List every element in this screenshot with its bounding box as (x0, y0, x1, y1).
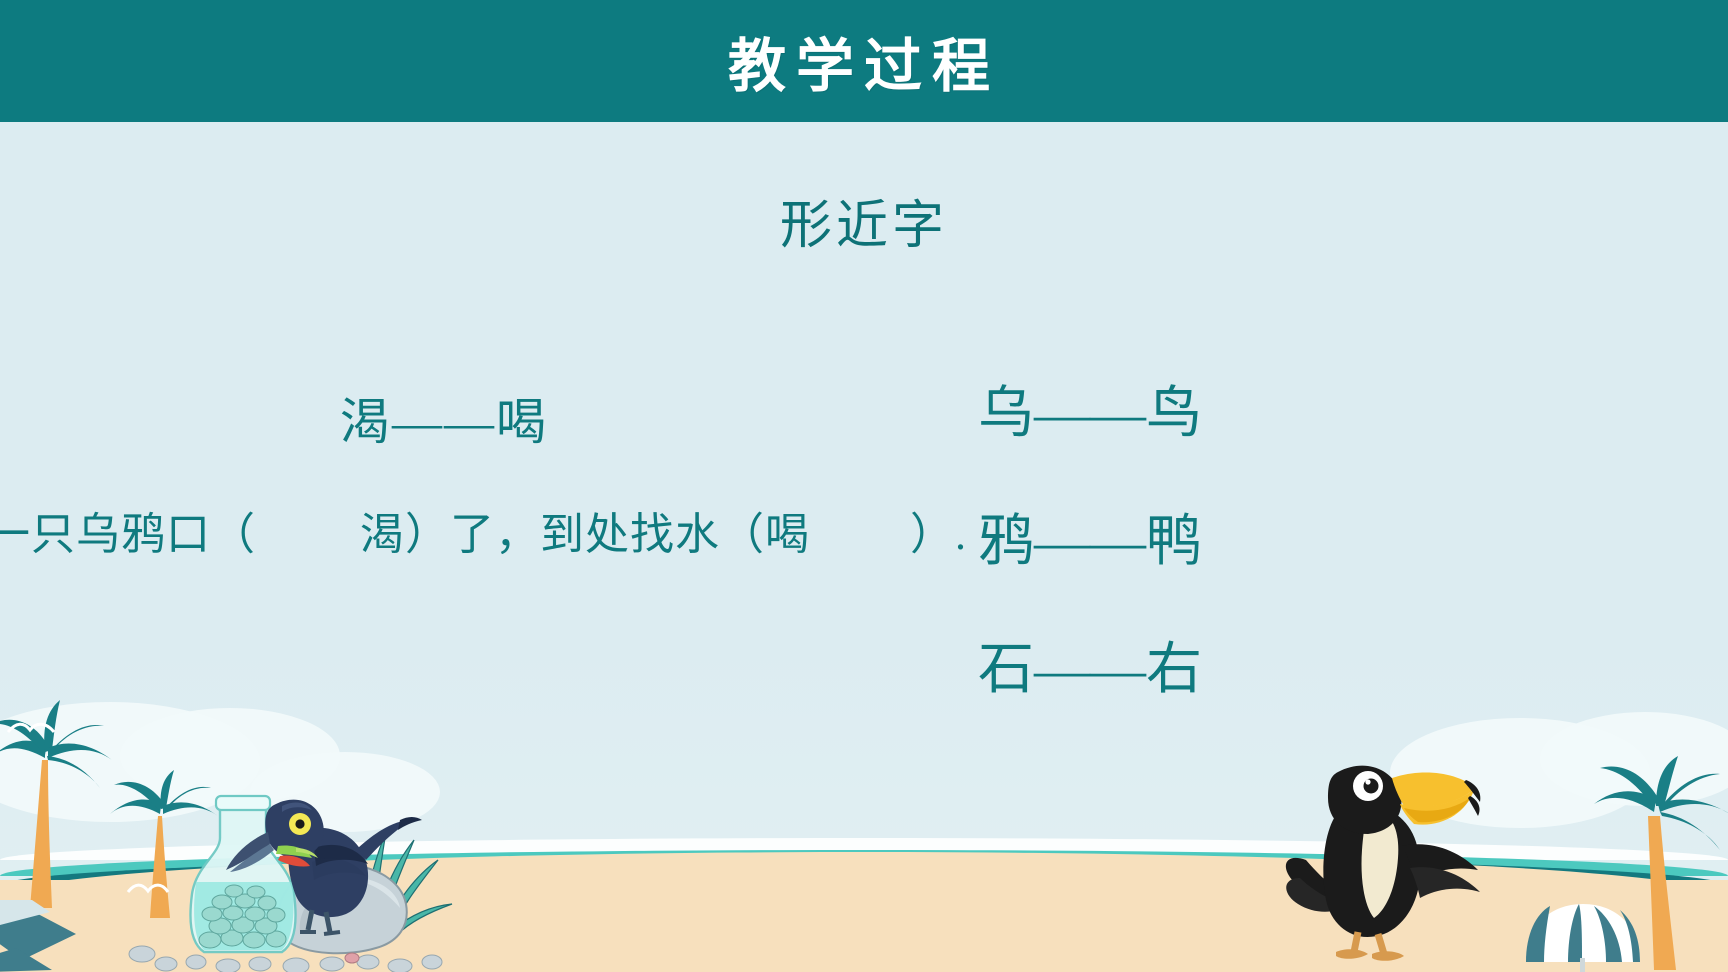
left-character-pair-text: 渴——喝 (340, 394, 548, 450)
toucan-bird-illustration (1280, 718, 1500, 972)
beach-umbrella-icon (1520, 900, 1646, 972)
sentence-part-2: ）了，到处找水（喝 (405, 510, 810, 559)
slide-header-band: 教学过程 (0, 0, 1728, 122)
fill-in-the-blank-sentence: 一只乌鸦口（渴）了，到处找水（喝）. (0, 498, 967, 562)
character-pair-left: 鸦 (978, 511, 1034, 573)
character-pair-row: 乌——鸟 (978, 378, 1202, 506)
character-pair-row: 鸦——鸭 (978, 506, 1202, 634)
sentence-answer-1: 渴 (360, 510, 405, 559)
sentence-part-1: 一只乌鸦口（ (0, 510, 256, 559)
seagull-icon (6, 718, 56, 742)
left-character-pair: 渴——喝 (340, 382, 548, 454)
character-pair-right: 右 (1146, 639, 1202, 701)
character-pair-right: 鸭 (1146, 511, 1202, 573)
character-pair-left: 乌 (978, 383, 1034, 445)
character-pair-right: 鸟 (1146, 383, 1202, 445)
page-title: 教学过程 (728, 19, 1000, 103)
character-pair-dash: —— (1034, 639, 1146, 701)
character-pair-row: 石——右 (978, 634, 1202, 762)
character-pair-dash: —— (1034, 511, 1146, 573)
character-pair-left: 石 (978, 639, 1034, 701)
section-subtitle-text: 形近字 (780, 198, 948, 255)
section-subtitle: 形近字 (0, 183, 1728, 258)
slide-canvas: 教学过程 形近字 渴——喝 一只乌鸦口（渴）了，到处找水（喝）. 乌——鸟 鸦—… (0, 0, 1728, 972)
sentence-part-3: ）. (910, 510, 967, 559)
character-pair-dash: —— (1034, 383, 1146, 445)
right-character-pair-list: 乌——鸟 鸦——鸭 石——右 (978, 378, 1202, 762)
crow-drinking-from-bottle-illustration (100, 728, 480, 972)
